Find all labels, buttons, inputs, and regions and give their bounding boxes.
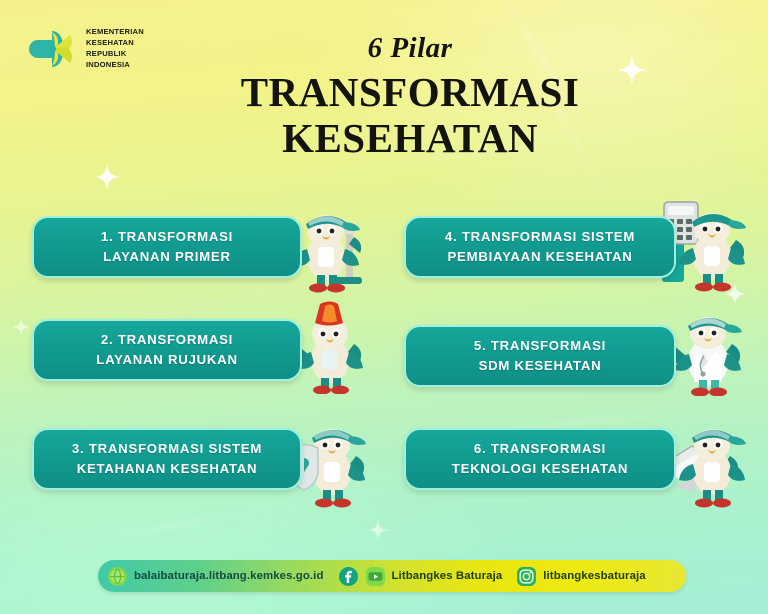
pillar-card-2[interactable]: 2. TRANSFORMASI LAYANAN RUJUKAN xyxy=(32,319,302,381)
pillar-line-3a: 3. TRANSFORMASI SISTEM xyxy=(72,441,262,456)
pillar-label-6: 6. TRANSFORMASI TEKNOLOGI KESEHATAN xyxy=(442,439,638,480)
infographic-poster: KEMENTERIAN KESEHATAN REPUBLIK INDONESIA… xyxy=(0,0,768,614)
sparkle-icon xyxy=(12,318,30,336)
page-title: 6 Pilar TRANSFORMASI KESEHATAN xyxy=(150,34,670,162)
logo-line-1: KEMENTERIAN xyxy=(86,26,144,37)
globe-icon xyxy=(107,566,128,587)
pillar-label-3: 3. TRANSFORMASI SISTEM KETAHANAN KESEHAT… xyxy=(62,439,272,480)
kemenkes-logo-text: KEMENTERIAN KESEHATAN REPUBLIK INDONESIA xyxy=(86,26,144,70)
facebook-icon[interactable] xyxy=(338,566,359,587)
light-streak xyxy=(42,494,338,551)
sparkle-icon xyxy=(724,283,746,305)
pillar-line-4a: 4. TRANSFORMASI SISTEM xyxy=(445,229,635,244)
pillar-line-5b: SDM KESEHATAN xyxy=(474,356,606,376)
instagram-handle: litbangkesbaturaja xyxy=(543,570,645,582)
mascot-doctor-coat xyxy=(664,300,752,396)
logo-line-4: INDONESIA xyxy=(86,59,144,70)
kemenkes-logo-icon xyxy=(26,22,78,74)
pillar-line-5a: 5. TRANSFORMASI xyxy=(474,338,606,353)
pillar-card-4[interactable]: 4. TRANSFORMASI SISTEM PEMBIAYAAN KESEHA… xyxy=(404,216,676,278)
pillar-line-2b: LAYANAN RUJUKAN xyxy=(96,350,237,370)
mascot-ambulance-light xyxy=(292,298,372,394)
pillar-line-4b: PEMBIAYAAN KESEHATAN xyxy=(445,247,635,267)
pillar-line-1a: 1. TRANSFORMASI xyxy=(101,229,233,244)
logo-line-2: KESEHATAN xyxy=(86,37,144,48)
pillar-label-1: 1. TRANSFORMASI LAYANAN PRIMER xyxy=(91,227,243,268)
pillar-card-1[interactable]: 1. TRANSFORMASI LAYANAN PRIMER xyxy=(32,216,302,278)
pillar-label-4: 4. TRANSFORMASI SISTEM PEMBIAYAAN KESEHA… xyxy=(435,227,645,268)
website-url: balaibaturaja.litbang.kemkes.go.id xyxy=(134,570,324,582)
website-group[interactable]: balaibaturaja.litbang.kemkes.go.id xyxy=(98,560,324,592)
kemenkes-logo-block: KEMENTERIAN KESEHATAN REPUBLIK INDONESIA xyxy=(26,22,144,74)
title-main: TRANSFORMASI KESEHATAN xyxy=(150,70,670,162)
pillar-card-6[interactable]: 6. TRANSFORMASI TEKNOLOGI KESEHATAN xyxy=(404,428,676,490)
title-prefix: 6 Pilar xyxy=(150,34,670,63)
youtube-icon[interactable] xyxy=(365,566,386,587)
sparkle-icon xyxy=(94,164,120,190)
pillar-line-3b: KETAHANAN KESEHATAN xyxy=(72,459,262,479)
pillar-label-5: 5. TRANSFORMASI SDM KESEHATAN xyxy=(464,336,616,377)
pillar-line-1b: LAYANAN PRIMER xyxy=(101,247,233,267)
title-line-1: TRANSFORMASI xyxy=(241,69,580,115)
title-line-2: KESEHATAN xyxy=(150,116,670,162)
pillar-line-6a: 6. TRANSFORMASI xyxy=(474,441,606,456)
pillar-line-6b: TEKNOLOGI KESEHATAN xyxy=(452,459,628,479)
pillar-card-5[interactable]: 5. TRANSFORMASI SDM KESEHATAN xyxy=(404,325,676,387)
social-name: Litbangkes Baturaja xyxy=(392,570,503,582)
social-group[interactable]: Litbangkes Baturaja xyxy=(324,560,503,592)
instagram-icon[interactable] xyxy=(516,566,537,587)
instagram-group[interactable]: litbangkesbaturaja xyxy=(502,560,645,592)
pillar-label-2: 2. TRANSFORMASI LAYANAN RUJUKAN xyxy=(86,330,247,371)
sparkle-icon xyxy=(368,520,388,540)
pillar-card-3[interactable]: 3. TRANSFORMASI SISTEM KETAHANAN KESEHAT… xyxy=(32,428,302,490)
logo-line-3: REPUBLIK xyxy=(86,48,144,59)
footer-contact-bar: balaibaturaja.litbang.kemkes.go.id Litba… xyxy=(98,560,686,592)
pillar-line-2a: 2. TRANSFORMASI xyxy=(101,332,233,347)
